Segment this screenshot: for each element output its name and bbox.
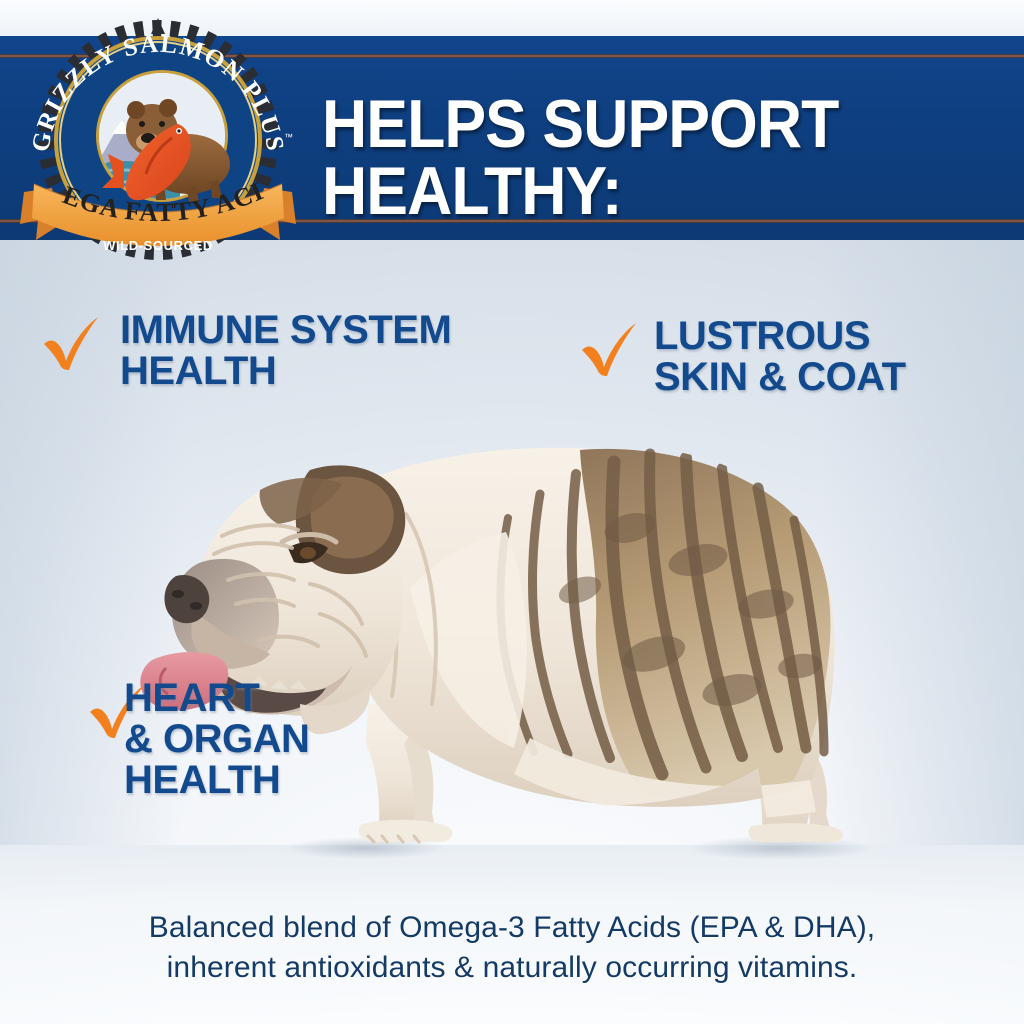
check-icon [578, 318, 640, 380]
poster-canvas: HELPS SUPPORT HEALTHY: [0, 0, 1024, 1024]
check-icon [40, 312, 102, 374]
page-title-line1: HELPS SUPPORT [322, 86, 838, 162]
logo-trademark: ™ [284, 132, 293, 142]
bulldog-photo [110, 408, 910, 908]
brand-logo[interactable]: GRIZZLY SALMON PLUS ™ OMEGA FATTY ACIDS … [12, 12, 304, 260]
product-caption: Balanced blend of Omega-3 Fatty Acids (E… [0, 908, 1024, 988]
benefit-label: IMMUNE SYSTEM HEALTH [120, 310, 620, 392]
benefit-label: LUSTROUS SKIN & COAT [654, 316, 1024, 398]
logo-sub-text: WILD-SOURCED [103, 238, 213, 253]
page-title: HELPS SUPPORT HEALTHY: [322, 91, 929, 224]
page-title-line2: HEALTHY: [322, 158, 929, 225]
benefit-label: HEART & ORGAN HEALTH [124, 678, 434, 802]
